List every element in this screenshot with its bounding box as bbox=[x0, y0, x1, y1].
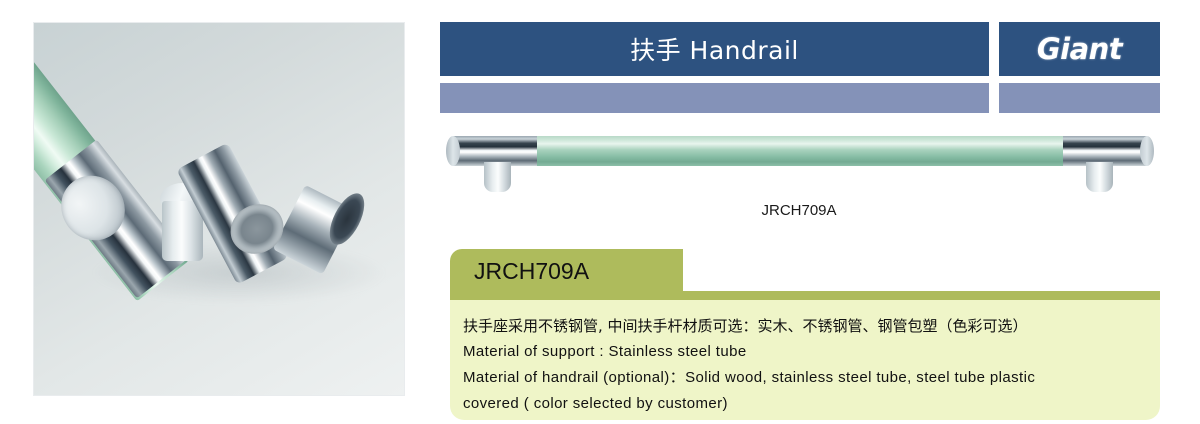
rail-end-cap-right bbox=[1140, 136, 1154, 166]
description-text-block: 扶手座采用不锈钢管, 中间扶手杆材质可选：实木、不锈钢管、钢管包塑（色彩可选） … bbox=[463, 313, 1153, 417]
rail-mount-post-left bbox=[484, 162, 511, 192]
header-accent-bar-left bbox=[440, 83, 989, 113]
model-tab: JRCH709A bbox=[450, 249, 683, 293]
description-line-en-2: Material of handrail (optional)：Solid wo… bbox=[463, 365, 1153, 391]
handrail-drawing bbox=[438, 132, 1160, 194]
header-accent-bar-right bbox=[999, 83, 1160, 113]
rail-end-cap-left bbox=[446, 136, 460, 166]
description-line-en-1: Material of support : Stainless steel tu… bbox=[463, 339, 1153, 365]
rail-green-tube bbox=[522, 136, 1078, 166]
brand-logo-bar: Giant bbox=[999, 22, 1160, 76]
rail-mount-post-right bbox=[1086, 162, 1113, 192]
page-title: 扶手 Handrail bbox=[630, 31, 799, 67]
drawing-caption: JRCH709A bbox=[438, 202, 1160, 219]
model-tab-label: JRCH709A bbox=[474, 258, 589, 285]
description-line-en-3: covered ( color selected by customer) bbox=[463, 391, 1153, 417]
header-title-bar: 扶手 Handrail bbox=[440, 22, 989, 76]
product-photo bbox=[33, 22, 405, 396]
photo-scene bbox=[34, 23, 404, 395]
brand-logo: Giant bbox=[1037, 32, 1122, 66]
description-line-cn: 扶手座采用不锈钢管, 中间扶手杆材质可选：实木、不锈钢管、钢管包塑（色彩可选） bbox=[463, 313, 1153, 339]
